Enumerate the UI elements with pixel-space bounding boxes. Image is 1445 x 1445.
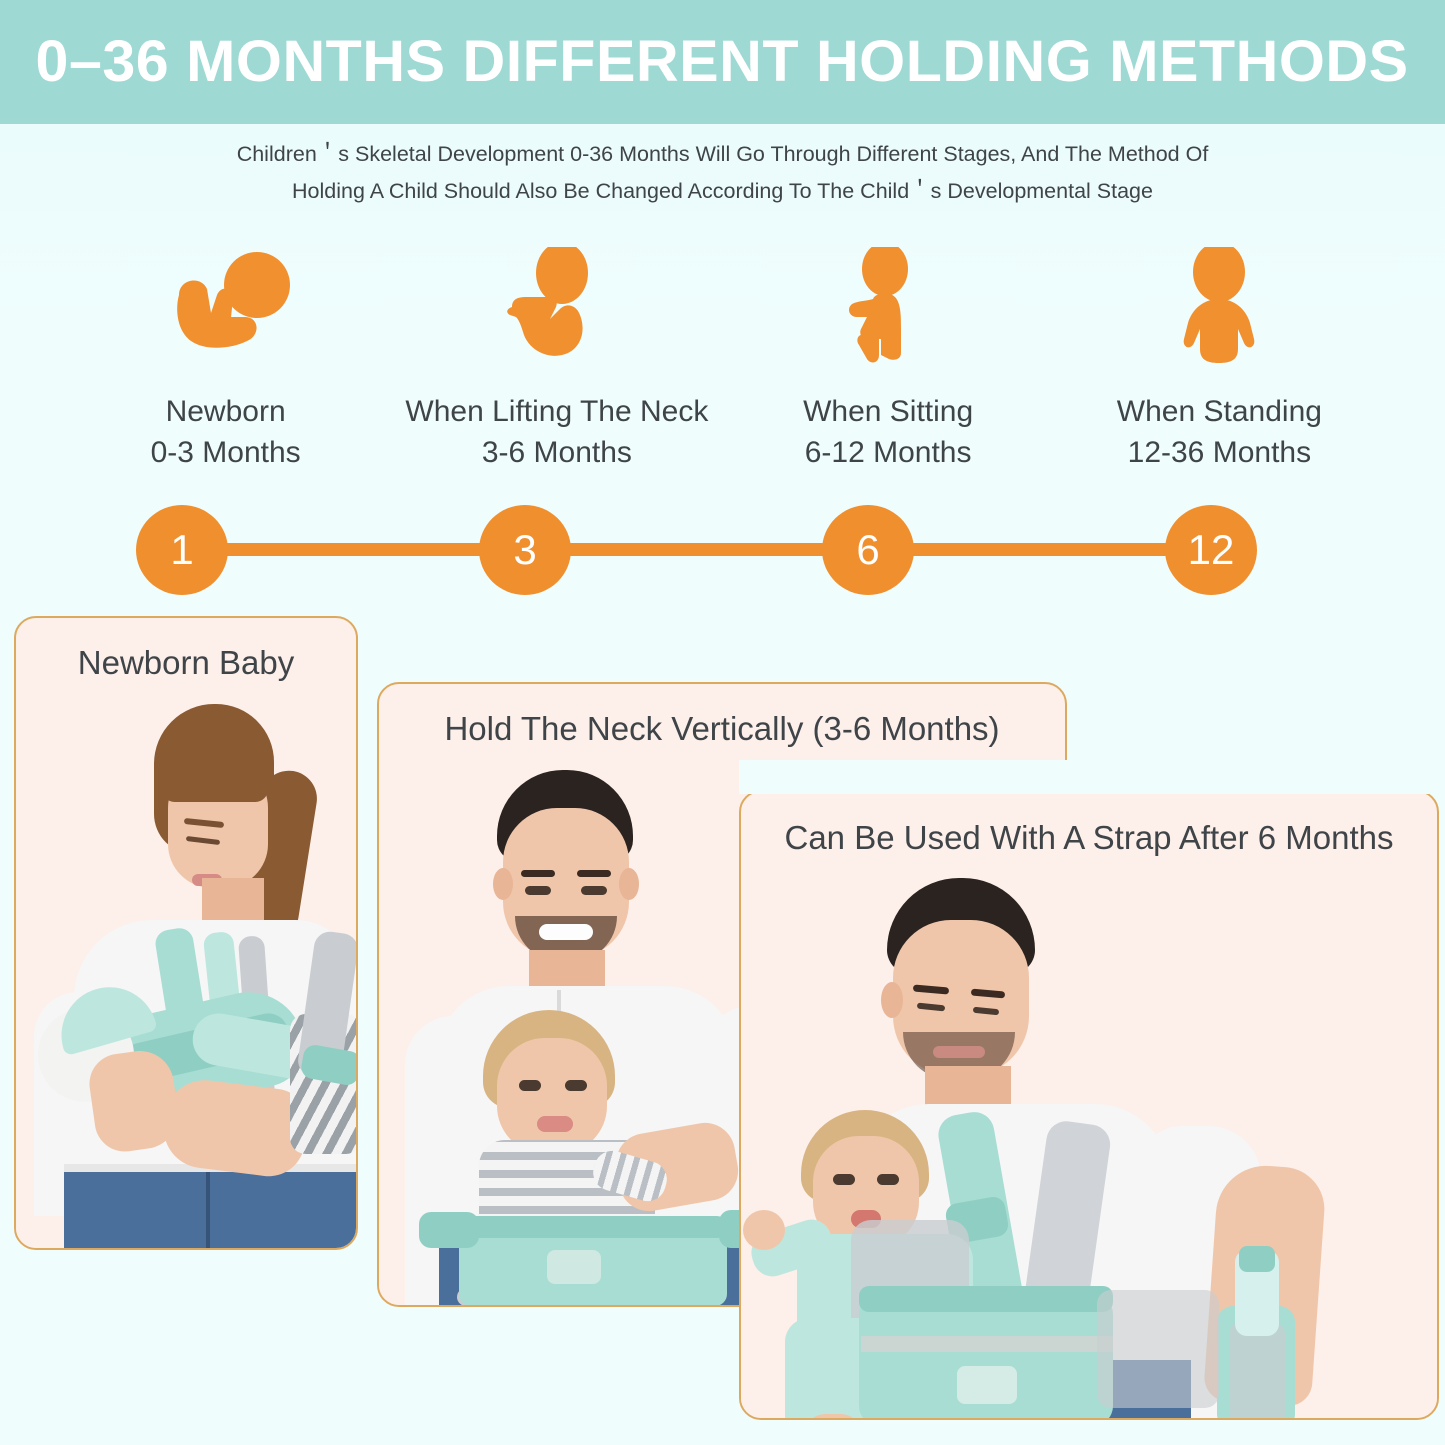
baby-sitting-icon bbox=[823, 245, 953, 365]
baby-lying-icon bbox=[161, 245, 291, 365]
timeline-node-12: 12 bbox=[1165, 505, 1257, 595]
stage-months: 12-36 Months bbox=[1117, 432, 1322, 473]
stage-item-newborn: Newborn 0-3 Months bbox=[60, 245, 391, 495]
subtitle: Children＇s Skeletal Development 0-36 Mon… bbox=[0, 136, 1445, 210]
stage-months: 0-3 Months bbox=[151, 432, 301, 473]
photo-strap-after-6-months bbox=[741, 874, 1437, 1418]
subtitle-line-2: Holding A Child Should Also Be Changed A… bbox=[0, 173, 1445, 210]
stage-list: Newborn 0-3 Months When Lifting The Neck… bbox=[60, 245, 1385, 495]
header-band: 0–36 MONTHS DIFFERENT HOLDING METHODS bbox=[0, 0, 1445, 124]
card-title: Can Be Used With A Strap After 6 Months bbox=[741, 821, 1437, 854]
subtitle-line-1: Children＇s Skeletal Development 0-36 Mon… bbox=[0, 136, 1445, 173]
stage-title: When Lifting The Neck bbox=[405, 395, 708, 428]
stage-item-standing: When Standing 12-36 Months bbox=[1054, 245, 1385, 495]
stage-months: 6-12 Months bbox=[803, 432, 973, 473]
card-title: Hold The Neck Vertically (3-6 Months) bbox=[379, 712, 1065, 745]
stage-item-sitting: When Sitting 6-12 Months bbox=[723, 245, 1054, 495]
stage-item-lifting-neck: When Lifting The Neck 3-6 Months bbox=[391, 245, 722, 495]
stage-title: When Standing bbox=[1117, 395, 1322, 428]
timeline-node-6: 6 bbox=[822, 505, 914, 595]
stage-label-lifting-neck: When Lifting The Neck 3-6 Months bbox=[405, 391, 708, 473]
timeline-node-3: 3 bbox=[479, 505, 571, 595]
photo-newborn-baby bbox=[16, 692, 356, 1248]
stage-title: Newborn bbox=[166, 395, 286, 428]
baby-lifting-neck-icon bbox=[492, 245, 622, 365]
timeline-rail bbox=[182, 543, 1240, 556]
stage-title: When Sitting bbox=[803, 395, 973, 428]
card-newborn-baby: Newborn Baby bbox=[14, 616, 358, 1250]
card-strap-after-6-months: Can Be Used With A Strap After 6 Months bbox=[739, 790, 1439, 1420]
card-step-notch bbox=[739, 760, 1445, 794]
page-title: 0–36 MONTHS DIFFERENT HOLDING METHODS bbox=[36, 33, 1409, 91]
stage-label-newborn: Newborn 0-3 Months bbox=[151, 391, 301, 473]
timeline-node-1: 1 bbox=[136, 505, 228, 595]
stage-label-standing: When Standing 12-36 Months bbox=[1117, 391, 1322, 473]
infographic-page: 0–36 MONTHS DIFFERENT HOLDING METHODS Ch… bbox=[0, 0, 1445, 1445]
stage-label-sitting: When Sitting 6-12 Months bbox=[803, 391, 973, 473]
photo-scene bbox=[16, 692, 356, 1248]
baby-standing-icon bbox=[1154, 245, 1284, 365]
photo-scene bbox=[741, 874, 1437, 1418]
card-title: Newborn Baby bbox=[16, 646, 356, 679]
age-timeline: 1 3 6 12 bbox=[136, 505, 1286, 595]
stage-months: 3-6 Months bbox=[405, 432, 708, 473]
